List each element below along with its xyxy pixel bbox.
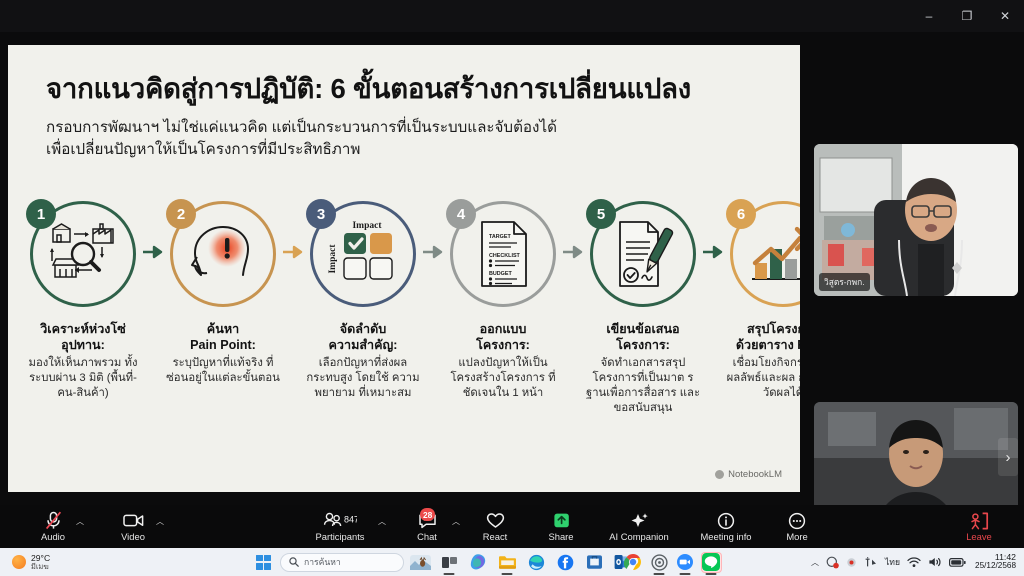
step-4-description: แปลงปัญหาให้เป็น โครงสร้างโครงการ ที่ชัด… [444, 356, 562, 401]
toolbar-participants-button[interactable]: 847 Participants ︿ [292, 505, 388, 548]
six-step-process-diagram: 1 [24, 197, 784, 452]
toolbar-audio-label: Audio [41, 532, 65, 541]
slide-subtitle-line-1: กรอบการพัฒนาฯ ไม่ใช่แค่แนวคิด แต่เป็นกระ… [46, 117, 766, 139]
taskbar-weather-widget[interactable]: 29°C มีเมฆ [12, 554, 50, 571]
close-button[interactable]: ✕ [986, 0, 1024, 32]
doc-label-checklist: CHECKLIST [489, 253, 521, 259]
tray-usb-icon[interactable] [864, 556, 878, 568]
step-2-circle: 2 [170, 201, 276, 307]
slide-title: จากแนวคิดสู่การปฏิบัติ: 6 ขั้นตอนสร้างกา… [46, 73, 766, 105]
doc-label-budget: BUDGET [489, 271, 512, 277]
process-step-5: 5 [584, 197, 702, 416]
video-caret-icon[interactable]: ︿ [156, 516, 164, 527]
leave-door-icon [969, 511, 989, 530]
toolbar-audio-button[interactable]: Audio ︿ [22, 505, 84, 548]
slide-subtitle-line-2: เพื่อเปลี่ยนปัญหาให้เป็นโครงการที่มีประส… [46, 139, 766, 161]
video-rail: วิสูตร-กพก. สำนักงานเกษตรอำเภอลำดวน จังห… [808, 32, 1024, 505]
process-step-4: 4 TARGET CHECKLIST BUDGET [444, 197, 562, 401]
step-4-circle: 4 TARGET CHECKLIST BUDGET [450, 201, 556, 307]
process-step-1: 1 [24, 197, 142, 401]
chat-unread-badge: 28 [420, 508, 435, 521]
toolbar-video-label: Video [121, 532, 145, 541]
notebooklm-watermark: NotebookLM [715, 469, 782, 480]
step-2-heading: ค้นหา Pain Point: [164, 321, 282, 353]
toolbar-chat-label: Chat [417, 532, 437, 541]
step-3-circle: 3 Impact Impact [310, 201, 416, 307]
step-1-heading: วิเคราะห์ห่วงโซ่ อุปทาน: [24, 321, 142, 353]
zoom-icon[interactable] [675, 552, 696, 573]
toolbar-chat-button[interactable]: 28 Chat ︿ [400, 505, 454, 548]
step-3-description: เลือกปัญหาที่ส่งผล กระทบสูง โดยใช้ ความพ… [304, 356, 422, 401]
process-step-3: 3 Impact Impact [304, 197, 422, 401]
arrow-5-to-6 [702, 197, 724, 307]
participant-1-name-chip: วิสูตร-กพก. [819, 273, 870, 291]
sun-icon [12, 555, 26, 569]
step-2-description: ระบุปัญหาที่แท้จริง ที่ซ่อนอยู่ในแต่ละขั… [164, 356, 282, 386]
toolbar-leave-button[interactable]: Leave [952, 505, 1006, 548]
start-button-icon[interactable] [256, 555, 271, 570]
process-step-2: 2 [164, 197, 282, 386]
step-2-number: 2 [166, 199, 196, 229]
participant-1-name: วิสูตร-กพก. [824, 275, 865, 289]
arrow-3-to-4 [422, 197, 444, 307]
taskbar-search-input[interactable]: การค้นหา [280, 553, 404, 572]
edge-icon[interactable] [526, 552, 547, 573]
step-1-number: 1 [26, 199, 56, 229]
notebooklm-watermark-label: NotebookLM [728, 469, 782, 480]
step-6-heading: สรุปโครงการ ด้วยตาราง RBM: [724, 321, 800, 353]
wifi-icon[interactable] [907, 556, 921, 568]
zoom-meeting-toolbar: Audio ︿ Video ︿ 847 [0, 505, 1024, 548]
step-1-circle: 1 [30, 201, 136, 307]
step-6-number: 6 [726, 199, 756, 229]
presentation-slide: จากแนวคิดสู่การปฏิบัติ: 6 ขั้นตอนสร้างกา… [8, 45, 800, 492]
recorder-icon[interactable] [649, 552, 670, 573]
supply-chain-magnifier-icon [45, 216, 121, 292]
participant-tile-1[interactable]: วิสูตร-กพก. [814, 144, 1018, 296]
sparkle-icon [630, 511, 649, 530]
line-icon[interactable] [701, 552, 722, 573]
taskbar-center-group: การค้นหา [256, 548, 636, 576]
notebooklm-logo-icon [715, 470, 724, 479]
doc-label-target: TARGET [489, 234, 511, 240]
shared-screen-stage: จากแนวคิดสู่การปฏิบัติ: 6 ขั้นตอนสร้างกา… [0, 32, 808, 505]
chrome-icon[interactable] [623, 552, 644, 573]
slide-subtitle: กรอบการพัฒนาฯ ไม่ใช่แค่แนวคิด แต่เป็นกระ… [46, 117, 766, 161]
step-3-heading: จัดลำดับ ความสำคัญ: [304, 321, 422, 353]
step-6-circle: 6 [730, 201, 800, 307]
zoom-window-titlebar: – ❐ ✕ [0, 0, 1024, 32]
step-3-number: 3 [306, 199, 336, 229]
toolbar-participants-label: Participants [316, 532, 365, 541]
step-5-number: 5 [586, 199, 616, 229]
svg-text:Impact: Impact [352, 221, 382, 231]
maximize-restore-button[interactable]: ❐ [948, 0, 986, 32]
participants-caret-icon[interactable]: ︿ [378, 516, 386, 527]
clock-date: 25/12/2568 [975, 562, 1016, 571]
step-4-number: 4 [446, 199, 476, 229]
toolbar-more-button[interactable]: More [770, 505, 824, 548]
facebook-icon[interactable] [555, 552, 576, 573]
toolbar-video-button[interactable]: Video ︿ [102, 505, 164, 548]
step-5-description: จัดทำเอกสารสรุป โครงการที่เป็นมาต รฐานเพ… [584, 356, 702, 416]
heart-icon [486, 511, 505, 530]
toolbar-leave-label: Leave [966, 532, 992, 541]
ellipsis-circle-icon [788, 511, 806, 530]
arrow-1-to-2 [142, 197, 164, 307]
toolbar-ai-companion-button[interactable]: AI Companion [596, 505, 682, 548]
toolbar-react-button[interactable]: React [468, 505, 522, 548]
copilot-icon[interactable] [468, 552, 489, 573]
weather-description: มีเมฆ [31, 563, 50, 571]
toolbar-meeting-info-button[interactable]: Meeting info [686, 505, 766, 548]
taskbar-clock[interactable]: 11:42 25/12/2568 [975, 553, 1016, 571]
windows-taskbar: 29°C มีเมฆ การค้นหา [0, 548, 1024, 576]
window-controls: – ❐ ✕ [910, 0, 1024, 32]
taskbar-right-apps [620, 548, 724, 576]
project-document-icon: TARGET CHECKLIST BUDGET [465, 216, 541, 292]
growth-bar-chart-icon [745, 216, 800, 292]
people-icon: 847 [323, 511, 357, 530]
system-tray: ︿ ไทย [811, 548, 1016, 576]
arrow-4-to-5 [562, 197, 584, 307]
step-5-heading: เขียนข้อเสนอ โครงการ: [584, 321, 702, 353]
info-circle-icon [717, 511, 735, 530]
toolbar-meeting-info-label: Meeting info [700, 532, 751, 541]
input-language-indicator[interactable]: ไทย [885, 555, 900, 569]
toolbar-share-button[interactable]: Share [532, 505, 590, 548]
screen: – ❐ ✕ จากแนวคิดสู่การปฏิบัติ: 6 ขั้นตอนส… [0, 0, 1024, 576]
microsoft-store-icon[interactable] [584, 552, 605, 573]
arrow-2-to-3 [282, 197, 304, 307]
signed-proposal-pen-icon [605, 216, 681, 292]
microphone-muted-icon [45, 511, 62, 530]
head-pain-point-icon [185, 216, 261, 292]
volume-icon[interactable] [928, 556, 942, 568]
toolbar-more-label: More [786, 532, 807, 541]
process-step-6: 6 [724, 197, 800, 401]
widgets-deer-icon[interactable] [410, 552, 431, 573]
tray-chevron-icon[interactable]: ︿ [811, 557, 819, 568]
battery-icon[interactable] [949, 557, 966, 568]
step-6-description: เชื่อมโยงกิจกรรมสู่ สู่ผลลัพธ์และผล กระท… [724, 356, 800, 401]
tray-notification-icon[interactable] [846, 557, 857, 568]
impact-effort-matrix-icon: Impact Impact [325, 216, 401, 292]
audio-caret-icon[interactable]: ︿ [76, 516, 84, 527]
share-screen-icon [552, 511, 571, 530]
step-5-circle: 5 [590, 201, 696, 307]
svg-text:Impact: Impact [328, 244, 338, 274]
search-icon [289, 557, 299, 567]
toolbar-react-label: React [483, 532, 508, 541]
minimize-button[interactable]: – [910, 0, 948, 32]
tray-security-icon[interactable] [826, 556, 839, 569]
file-explorer-icon[interactable] [497, 552, 518, 573]
search-placeholder: การค้นหา [304, 555, 341, 569]
video-rail-next-button[interactable]: › [998, 438, 1018, 476]
participants-count-text: 847 [344, 515, 357, 525]
step-1-description: มองให้เห็นภาพรวม ทั้งระบบผ่าน 3 มิติ (พื… [24, 356, 142, 401]
task-view-icon[interactable] [439, 552, 460, 573]
camera-icon [123, 511, 144, 530]
step-4-heading: ออกแบบ โครงการ: [444, 321, 562, 353]
chat-caret-icon[interactable]: ︿ [452, 516, 460, 527]
toolbar-ai-companion-label: AI Companion [609, 532, 668, 541]
toolbar-share-label: Share [548, 532, 573, 541]
